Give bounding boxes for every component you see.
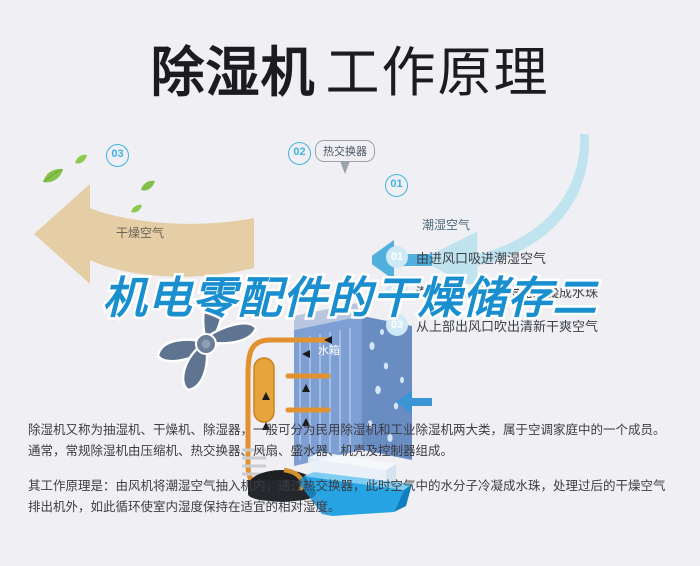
paragraph-2: 其工作原理是：由风机将潮湿空气抽入机内，通过热交换器，此时空气中的水分子冷凝成水… xyxy=(28,476,676,518)
marker-02: 02 xyxy=(288,142,311,165)
marker-03: 03 xyxy=(106,144,129,167)
label-water-tank: 水箱 xyxy=(318,342,340,358)
heat-exchanger-callout: 热交换器 xyxy=(315,140,375,162)
label-dry-air: 干燥空气 xyxy=(116,224,164,241)
marker-01: 01 xyxy=(385,174,408,197)
article-body: 除湿机又称为抽湿机、干燥机、除湿器，一般可分为民用除湿机和工业除湿机两大类，属于… xyxy=(28,420,676,532)
overlay-watermark-title: 机电零配件的干燥储存二 xyxy=(103,262,598,326)
page-title-light: 工作原理 xyxy=(326,43,550,103)
page-title: 除湿机工作原理 xyxy=(0,28,700,107)
leaf-icon xyxy=(42,168,64,184)
page-root: 除湿机工作原理 xyxy=(0,0,700,566)
leaf-icon xyxy=(140,180,156,192)
leaf-icon xyxy=(130,204,143,214)
label-humid-air: 潮湿空气 xyxy=(422,216,470,233)
page-title-bold: 除湿机 xyxy=(151,43,316,103)
leaf-icon xyxy=(74,154,88,165)
paragraph-1: 除湿机又称为抽湿机、干燥机、除湿器，一般可分为民用除湿机和工业除湿机两大类，属于… xyxy=(28,420,676,462)
